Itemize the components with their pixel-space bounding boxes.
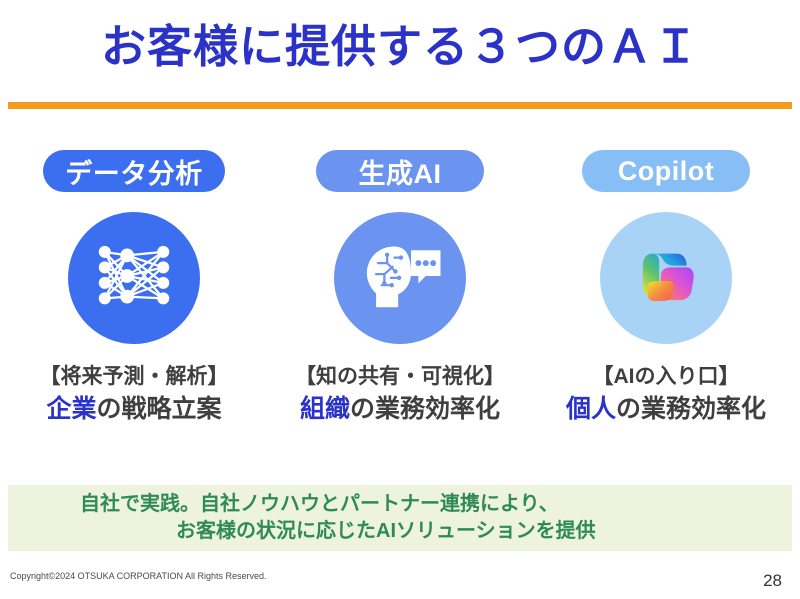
caption-rest: の業務効率化 bbox=[350, 395, 500, 423]
caption-main-text: 個人の業務効率化 bbox=[566, 394, 766, 425]
caption-bracket-text: 【知の共有・可視化】 bbox=[295, 364, 505, 390]
copyright-text: Copyright©2024 OTSUKA CORPORATION All Ri… bbox=[10, 571, 267, 581]
caption-highlight: 個人 bbox=[566, 395, 616, 423]
icon-circle-copilot bbox=[600, 212, 732, 344]
summary-banner: 自社で実践。自社ノウハウとパートナー連携により、 お客様の状況に応じたAIソリュ… bbox=[8, 485, 792, 551]
banner-line-1: 自社で実践。自社ノウハウとパートナー連携により、 bbox=[8, 491, 792, 518]
icon-circle-generative-ai bbox=[334, 212, 466, 344]
slide-left-edge bbox=[0, 0, 3, 599]
caption-main-text: 組織の業務効率化 bbox=[295, 394, 505, 425]
caption-bracket-text: 【AIの入り口】 bbox=[566, 364, 766, 390]
caption-highlight: 組織 bbox=[300, 395, 350, 423]
column-copilot: Copilot bbox=[540, 150, 792, 426]
caption-rest: の戦略立案 bbox=[97, 395, 222, 423]
caption-copilot: 【AIの入り口】 個人の業務効率化 bbox=[566, 364, 766, 426]
caption-data-analysis: 【将来予測・解析】 企業の戦略立案 bbox=[40, 364, 229, 426]
pill-data-analysis[interactable]: データ分析 bbox=[43, 150, 225, 192]
column-data-analysis: データ分析 bbox=[8, 150, 260, 426]
page-number: 28 bbox=[763, 571, 782, 591]
microsoft-copilot-icon bbox=[623, 233, 709, 324]
caption-main-text: 企業の戦略立案 bbox=[40, 394, 229, 425]
caption-rest: の業務効率化 bbox=[616, 395, 766, 423]
caption-bracket-text: 【将来予測・解析】 bbox=[40, 364, 229, 390]
title-divider-rule bbox=[8, 102, 792, 109]
pill-copilot[interactable]: Copilot bbox=[582, 150, 750, 192]
column-generative-ai: 生成AI bbox=[274, 150, 526, 426]
neural-network-icon bbox=[91, 233, 177, 324]
three-ai-columns: データ分析 bbox=[8, 150, 792, 426]
pill-label: 生成AI bbox=[359, 152, 442, 191]
caption-highlight: 企業 bbox=[46, 395, 96, 423]
page-title: お客様に提供する３つのＡＩ bbox=[0, 22, 800, 72]
banner-line-2: お客様の状況に応じたAIソリューションを提供 bbox=[8, 518, 792, 545]
pill-label: データ分析 bbox=[65, 152, 203, 191]
caption-generative-ai: 【知の共有・可視化】 組織の業務効率化 bbox=[295, 364, 505, 426]
slide-canvas: お客様に提供する３つのＡＩ データ分析 bbox=[0, 0, 800, 599]
ai-head-chat-icon bbox=[354, 230, 446, 327]
pill-generative-ai[interactable]: 生成AI bbox=[316, 150, 484, 192]
pill-label: Copilot bbox=[618, 156, 714, 187]
icon-circle-data-analysis bbox=[68, 212, 200, 344]
